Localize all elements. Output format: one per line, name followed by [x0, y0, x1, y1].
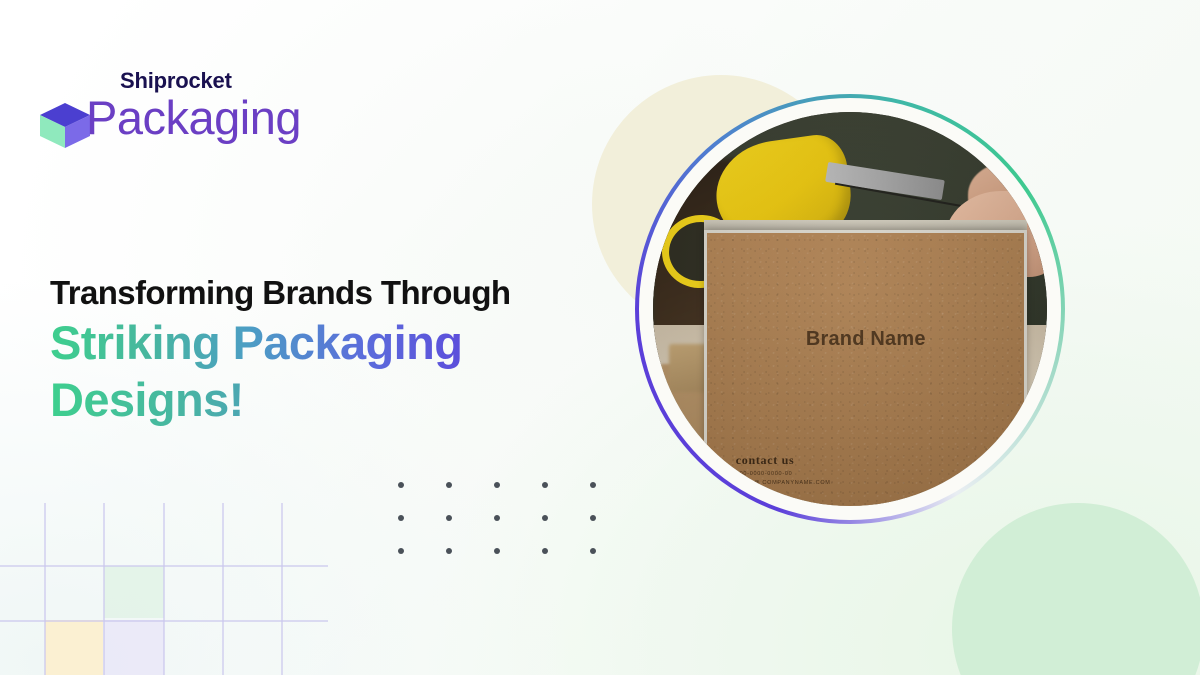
dot [494, 482, 500, 488]
grid-line-vertical [163, 503, 165, 675]
dot [398, 482, 404, 488]
dot [542, 548, 548, 554]
carton-contact-title: contact us [736, 453, 831, 468]
dot [446, 482, 452, 488]
dot [494, 548, 500, 554]
carton-contact-block: contact us +00-0000-0000-00 INFO @ COMPA… [736, 453, 831, 486]
headline-block: Transforming Brands Through Striking Pac… [50, 272, 650, 428]
carton-contact-email: INFO @ COMPANYNAME.COM [736, 480, 831, 486]
promo-banner: Shiprocket Packaging Transforming Brands… [0, 0, 1200, 675]
dot [398, 515, 404, 521]
headline-line-1: Transforming Brands Through [50, 272, 650, 314]
carton-box: Brand Name contact us +00-0000-0000-00 I… [704, 230, 1027, 506]
photo-gradient-ring: Brand Name contact us +00-0000-0000-00 I… [635, 94, 1065, 524]
grid-line-vertical [281, 503, 283, 675]
grid-line-vertical [44, 503, 46, 675]
decorative-grid [0, 503, 328, 675]
grid-cell-cream [45, 620, 103, 675]
photo-ring-inner: Brand Name contact us +00-0000-0000-00 I… [639, 98, 1061, 520]
grid-cell-mint [104, 566, 164, 618]
dot [494, 515, 500, 521]
dot [590, 482, 596, 488]
dot [542, 515, 548, 521]
logo-name-bottom: Packaging [86, 92, 301, 144]
grid-line-horizontal [0, 565, 328, 567]
dot [590, 515, 596, 521]
decorative-circle-mint [952, 503, 1200, 675]
brand-logo[interactable]: Shiprocket Packaging [36, 68, 336, 158]
dot [446, 548, 452, 554]
dot [446, 515, 452, 521]
dot [398, 548, 404, 554]
headline-line-3: Designs! [50, 371, 650, 428]
dot [542, 482, 548, 488]
grid-cell-lavender [104, 620, 164, 675]
logo-wordmark: Shiprocket Packaging [86, 68, 301, 144]
carton-contact-phone: +00-0000-0000-00 [736, 471, 831, 477]
packaging-photo: Brand Name contact us +00-0000-0000-00 I… [653, 112, 1047, 506]
decorative-dot-grid [398, 482, 638, 581]
grid-line-horizontal [0, 620, 328, 622]
headline-line-2: Striking Packaging [50, 314, 650, 371]
grid-line-vertical [103, 503, 105, 675]
dot [590, 548, 596, 554]
carton-brand-label: Brand Name [707, 328, 1024, 351]
grid-line-vertical [222, 503, 224, 675]
